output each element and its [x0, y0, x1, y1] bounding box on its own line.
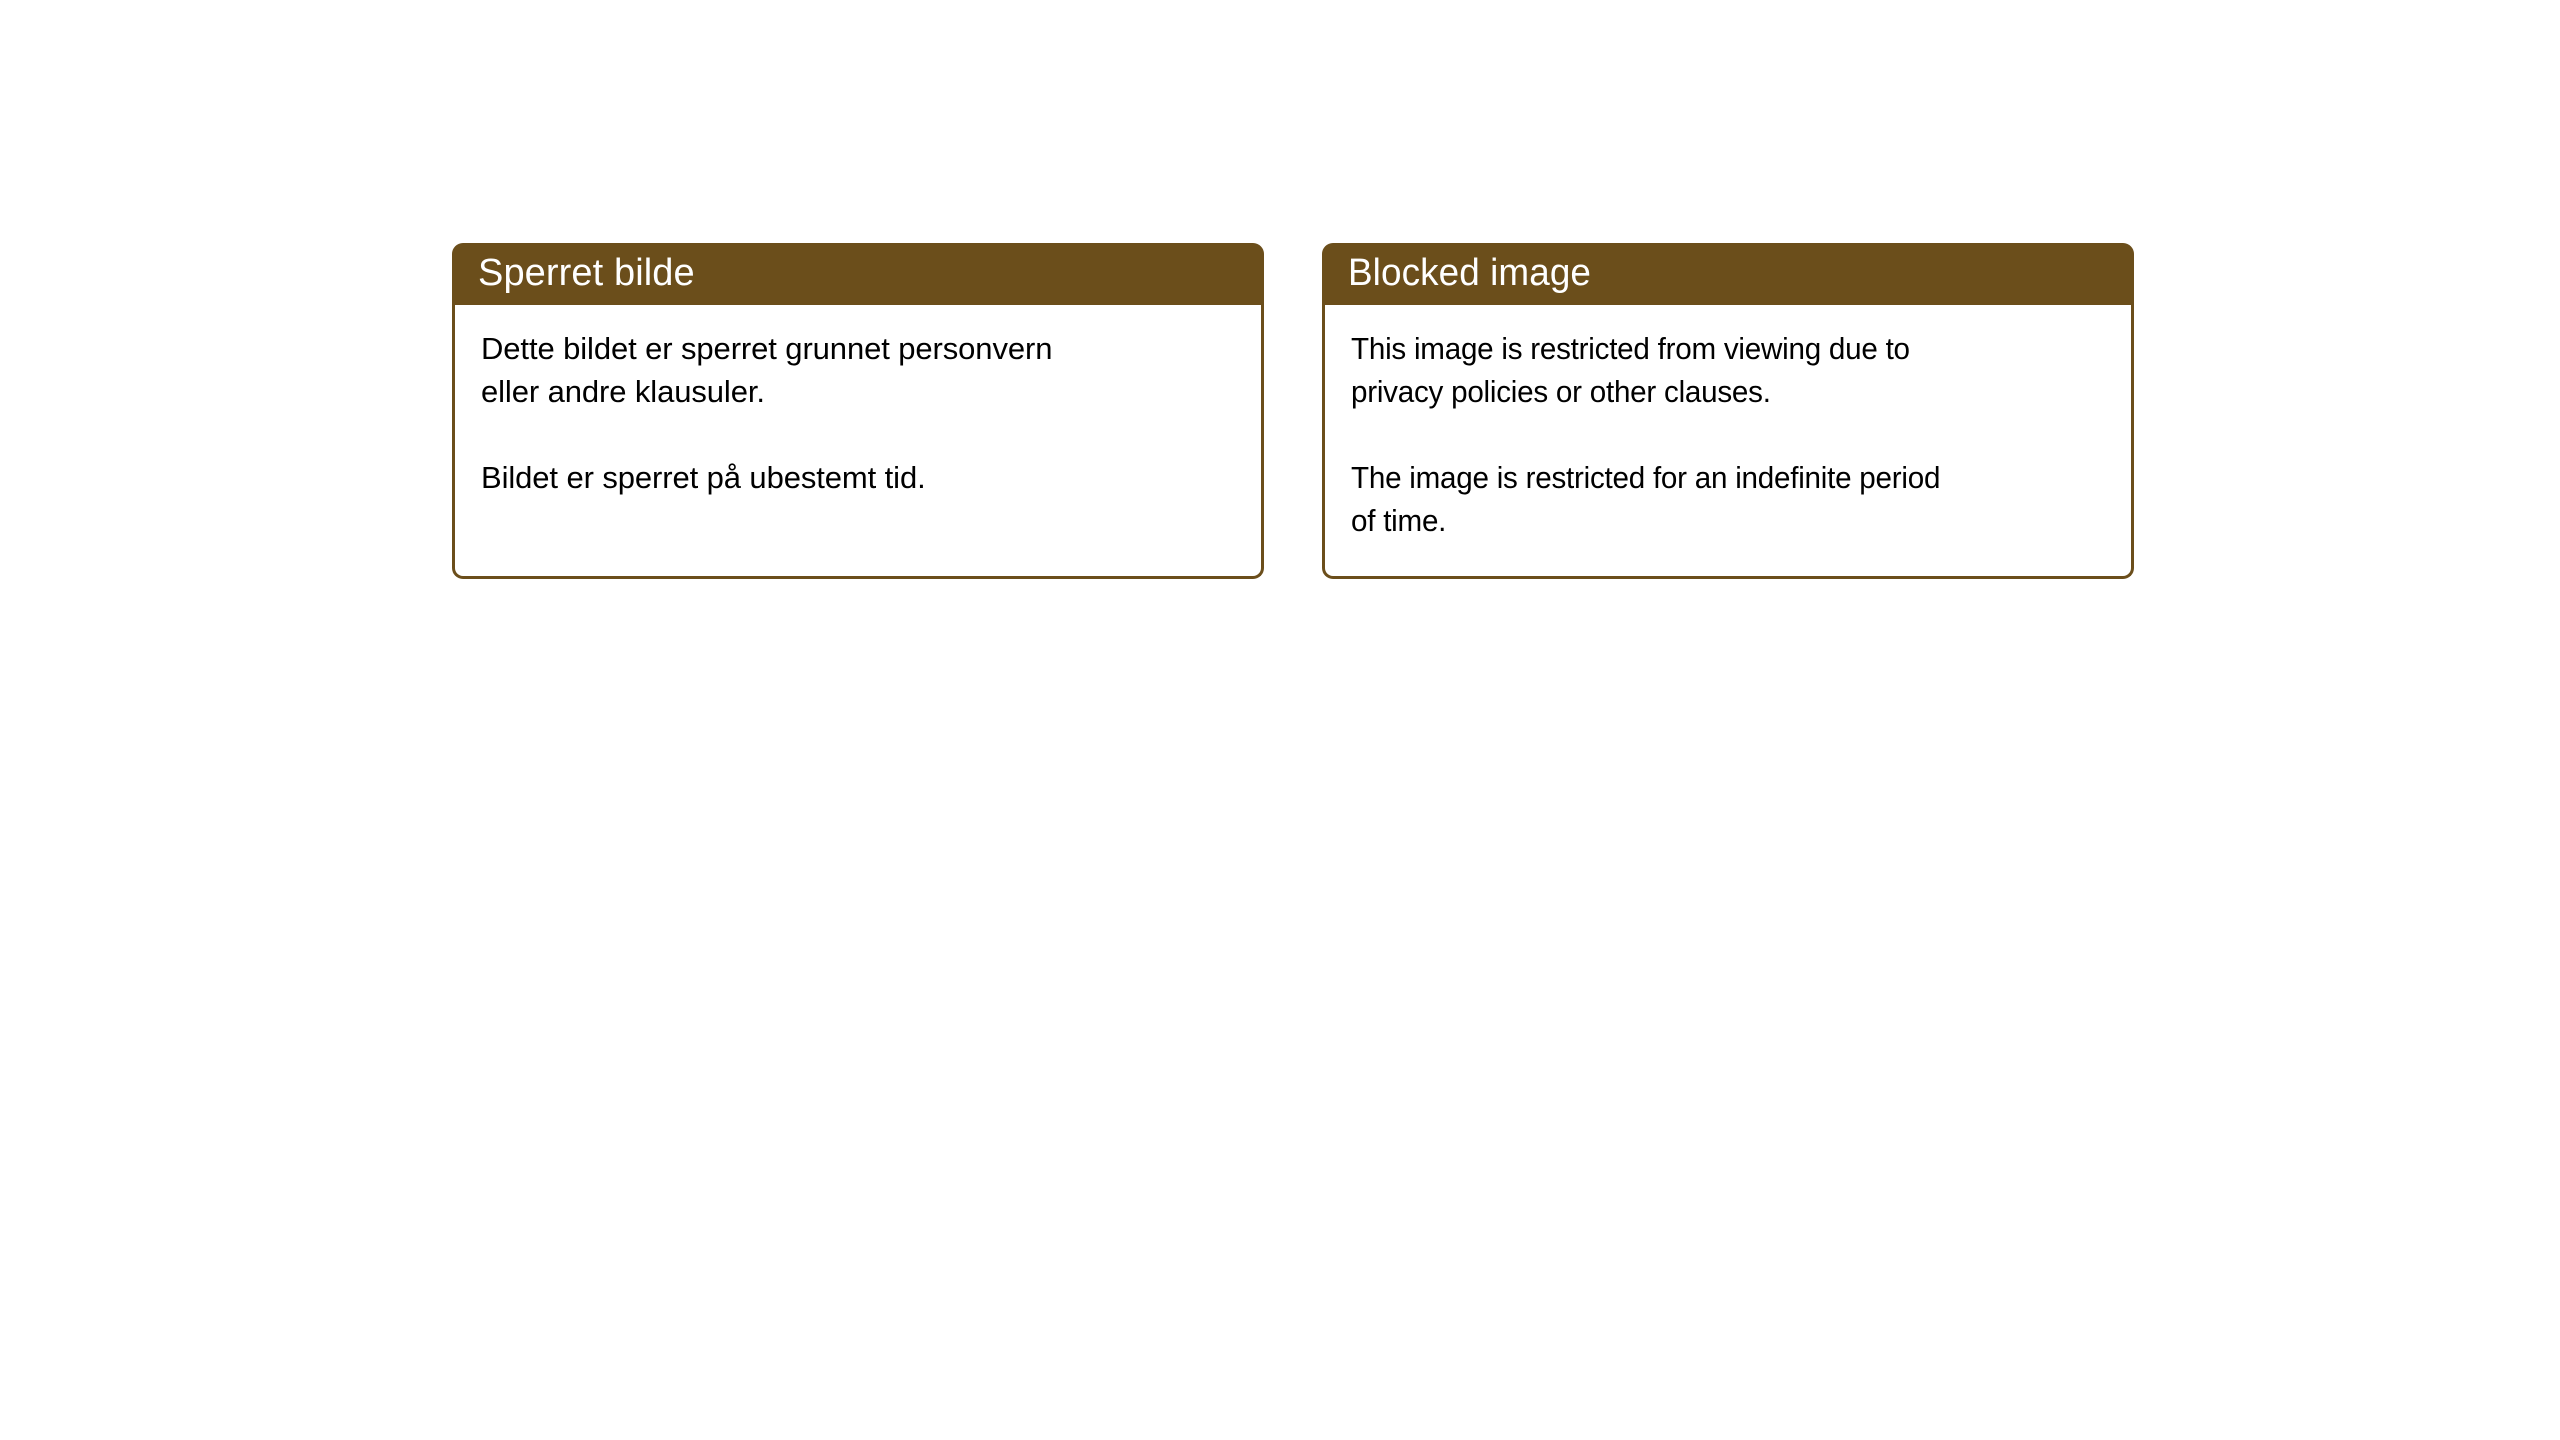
panel-header-english: Blocked image [1322, 243, 2134, 305]
panel-body-english: This image is restricted from viewing du… [1322, 305, 2134, 579]
page-canvas: Sperret bilde Dette bildet er sperret gr… [0, 0, 2560, 1440]
panel-paragraph-reason-english: This image is restricted from viewing du… [1351, 327, 2073, 413]
panel-paragraph-reason-norwegian: Dette bildet er sperret grunnet personve… [481, 327, 1237, 413]
blocked-image-notice-english: Blocked image This image is restricted f… [1322, 243, 2134, 579]
panel-paragraph-duration-norwegian: Bildet er sperret på ubestemt tid. [481, 456, 1237, 499]
panel-title-english: Blocked image [1348, 252, 1591, 294]
panel-body-norwegian: Dette bildet er sperret grunnet personve… [452, 305, 1264, 579]
panel-title-norwegian: Sperret bilde [478, 252, 695, 294]
panel-header-norwegian: Sperret bilde [452, 243, 1264, 305]
blocked-image-notice-norwegian: Sperret bilde Dette bildet er sperret gr… [452, 243, 1264, 579]
panel-paragraph-duration-english: The image is restricted for an indefinit… [1351, 456, 2073, 542]
